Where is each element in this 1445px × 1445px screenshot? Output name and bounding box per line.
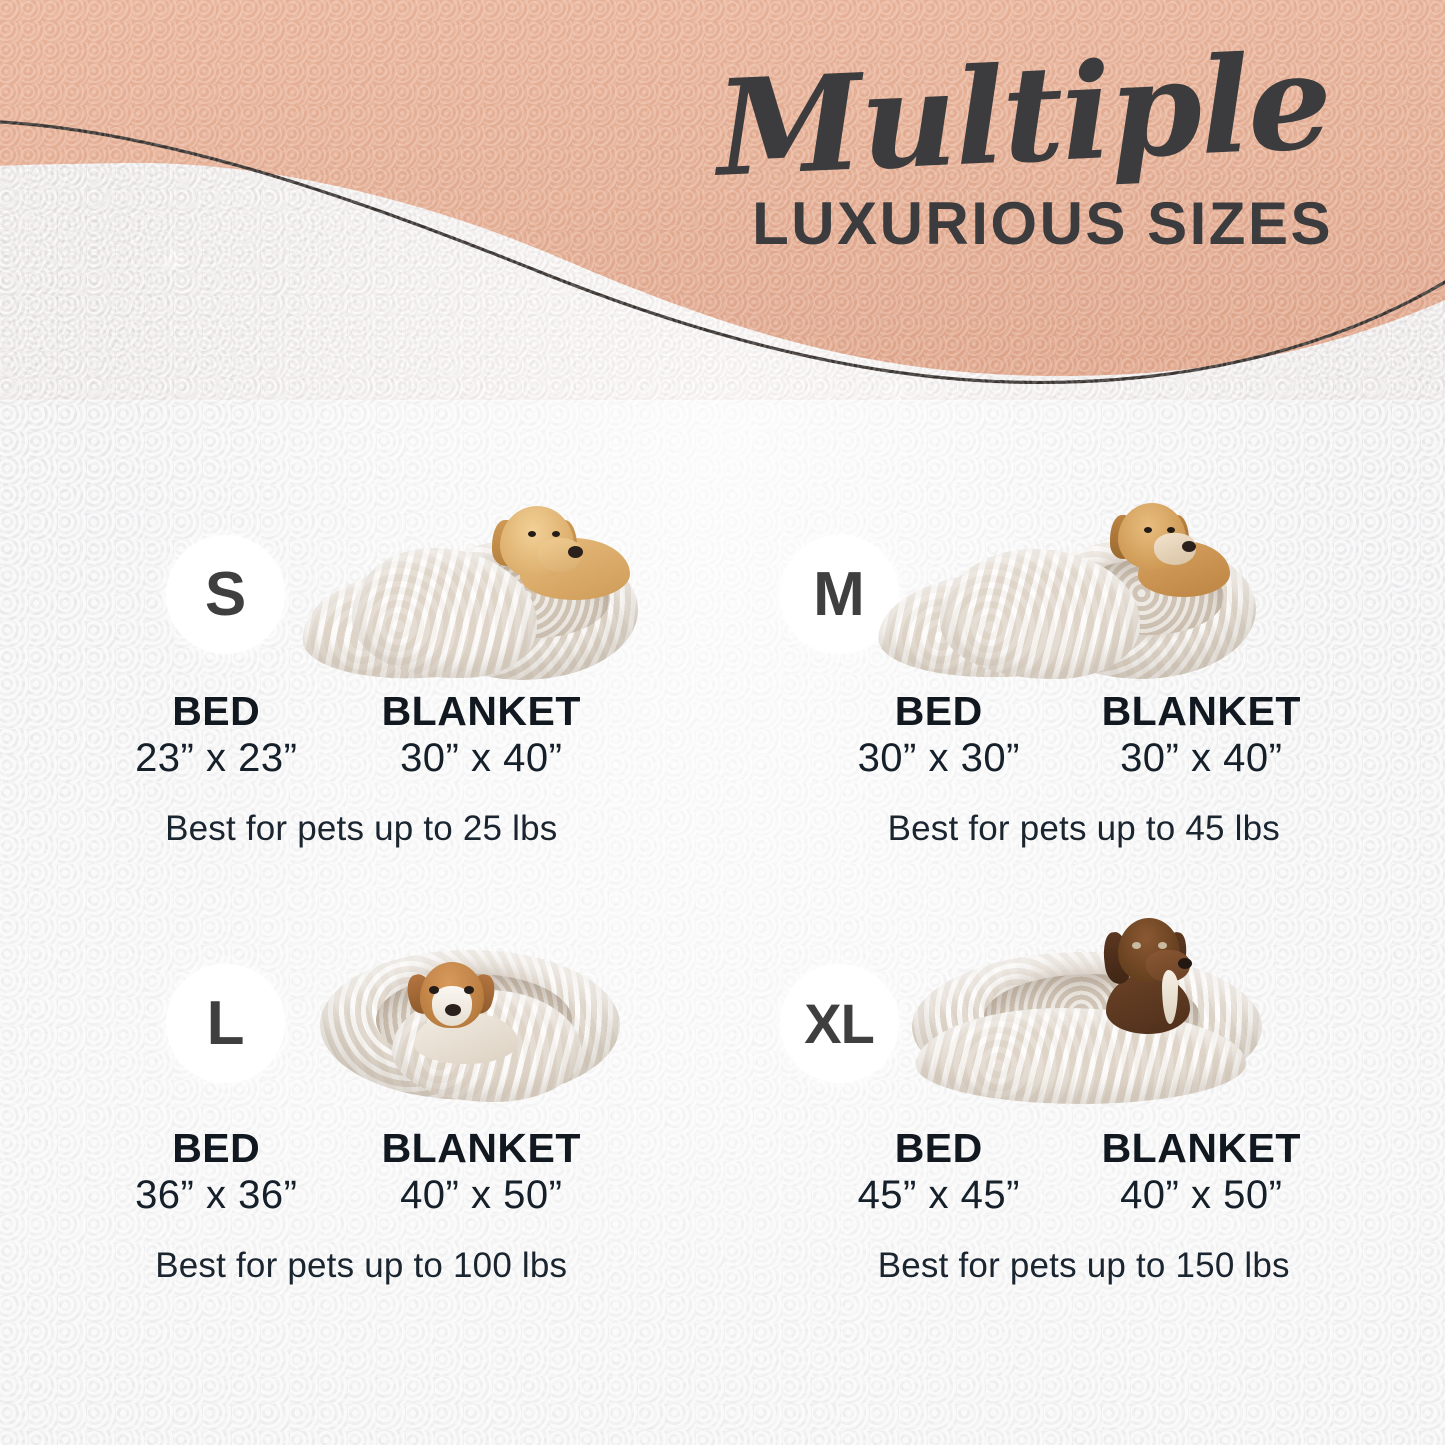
bed-dims: 30” x 30” [821, 733, 1056, 783]
best-for-text: Best for pets up to 150 lbs [723, 1246, 1445, 1286]
blanket-dims: 30” x 40” [336, 733, 626, 783]
blanket-dims: 30” x 40” [1056, 733, 1346, 783]
dog-tan-white [1114, 497, 1210, 589]
blanket-label: BLANKET [1056, 1127, 1346, 1170]
bed-dims: 36” x 36” [96, 1170, 336, 1220]
best-for-text: Best for pets up to 25 lbs [0, 809, 723, 849]
size-cell-xl[interactable]: XL [723, 902, 1445, 1352]
best-for-text: Best for pets up to 100 lbs [0, 1246, 723, 1286]
size-cell-s[interactable]: S [0, 452, 723, 902]
dog-golden-retriever-puppy [494, 498, 600, 594]
bed-dims: 45” x 45” [821, 1170, 1056, 1220]
size-badge-letter: S [205, 564, 246, 626]
peach-wave-band [0, 0, 1445, 470]
blanket-dims: 40” x 50” [336, 1170, 626, 1220]
dog-german-shorthaired-pointer [1110, 916, 1206, 1026]
size-badge-letter: XL [804, 996, 874, 1052]
size-badge-l: L [166, 964, 285, 1083]
size-badge-letter: M [813, 564, 865, 626]
best-for-text: Best for pets up to 45 lbs [723, 809, 1445, 849]
bed-label: BED [96, 1127, 336, 1170]
product-image-m [878, 497, 1258, 697]
bed-label: BED [821, 690, 1056, 733]
blanket-label: BLANKET [336, 1127, 626, 1170]
bed-dims: 23” x 23” [96, 733, 336, 783]
size-labels-xl: BED 45” x 45” BLANKET 40” x 50” Best for… [723, 1127, 1445, 1286]
blanket-dims: 40” x 50” [1056, 1170, 1346, 1220]
size-cell-l[interactable]: L BED [0, 902, 723, 1352]
size-cell-m[interactable]: M [723, 452, 1445, 902]
product-image-l [300, 940, 640, 1110]
size-badge-xl: XL [780, 964, 899, 1083]
size-labels-m: BED 30” x 30” BLANKET 30” x 40” Best for… [723, 690, 1445, 849]
dog-boxer-mix [412, 956, 508, 1056]
product-image-xl [888, 922, 1288, 1112]
size-labels-l: BED 36” x 36” BLANKET 40” x 50” Best for… [0, 1127, 723, 1286]
size-badge-s: S [166, 535, 285, 654]
blanket-label: BLANKET [1056, 690, 1346, 733]
size-grid: S [0, 452, 1445, 1352]
product-image-s [296, 492, 636, 692]
bed-label: BED [821, 1127, 1056, 1170]
bed-label: BED [96, 690, 336, 733]
blanket-label: BLANKET [336, 690, 626, 733]
size-badge-letter: L [207, 993, 245, 1055]
size-labels-s: BED 23” x 23” BLANKET 30” x 40” Best for… [0, 690, 723, 849]
